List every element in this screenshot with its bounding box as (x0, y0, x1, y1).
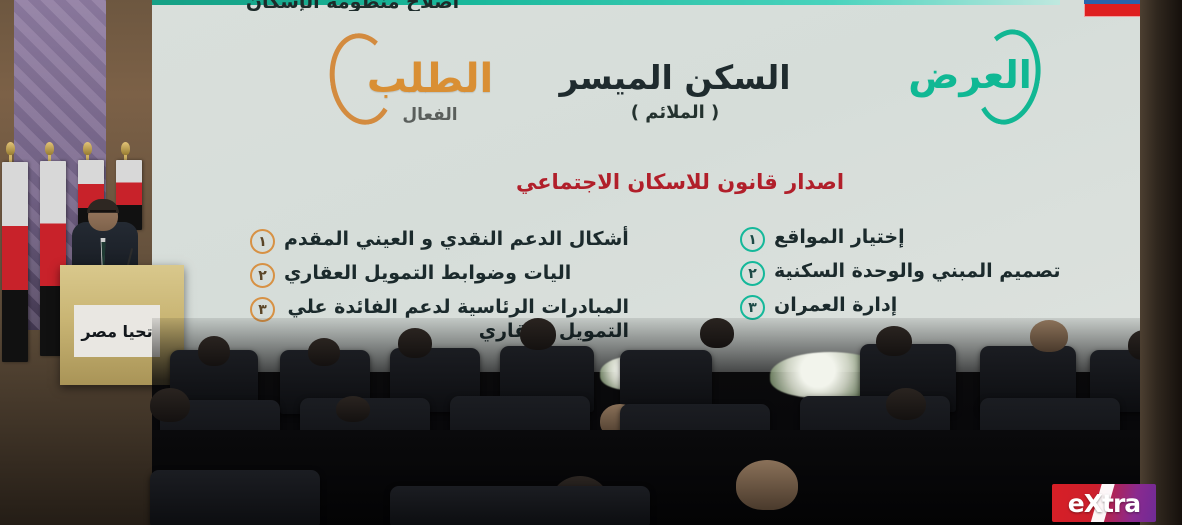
audience-head (886, 388, 926, 420)
audience-head (736, 460, 798, 510)
list-item-number: ٢ (250, 263, 275, 288)
list-item-number: ١ (250, 229, 275, 254)
law-statement: اصدار قانون للاسكان الاجتماعي (430, 170, 930, 194)
audience-head (876, 326, 912, 356)
audience-head (336, 396, 370, 422)
list-item: ١ أشكال الدعم النقدي و العيني المقدم (250, 228, 650, 254)
list-item-number: ٣ (740, 295, 765, 320)
heading-supply: العرض (890, 53, 1050, 97)
audience-head (1030, 320, 1068, 352)
audience-chair (150, 470, 320, 525)
hall-right-wall (1140, 0, 1182, 525)
heading-center: السكن الميسر (540, 58, 810, 97)
list-item-number: ١ (740, 227, 765, 252)
list-item-label: اليات وضوابط التمويل العقاري (284, 262, 571, 286)
heading-center-subtitle: ( الملائم ) (540, 102, 810, 123)
flag-finial (83, 142, 92, 155)
audience-head (198, 336, 230, 366)
list-item-label: إختيار المواقع (774, 226, 905, 250)
list-item: ٢ اليات وضوابط التمويل العقاري (250, 262, 650, 288)
podium-plate: تحيا مصر (74, 305, 160, 357)
speaker-glasses (90, 210, 116, 218)
podium-plate-label: تحيا مصر (81, 322, 152, 341)
heading-demand-subtitle: الفعال (350, 105, 510, 125)
list-item: ٢ تصميم المبني والوحدة السكنية (740, 260, 1110, 286)
flag-finial (6, 142, 15, 155)
supply-list: ١ إختيار المواقع ٢ تصميم المبني والوحدة … (740, 226, 1110, 328)
list-item: ١ إختيار المواقع (740, 226, 1110, 252)
audience-head (398, 328, 432, 358)
top-right-blue-line (1084, 0, 1144, 4)
audience-head (308, 338, 340, 366)
broadcast-frame: اصلاح منظومة الإسكان الطلب الفعال السكن … (0, 0, 1182, 525)
list-item-label: تصميم المبني والوحدة السكنية (774, 260, 1061, 284)
audience-head (150, 388, 190, 422)
slide-clipped-header: اصلاح منظومة الإسكان (245, 0, 460, 11)
list-item-number: ٢ (740, 261, 765, 286)
channel-logo-text: eXtra (1052, 484, 1156, 522)
audience-head (520, 318, 556, 350)
audience-head (700, 318, 734, 348)
egyptian-flag (116, 160, 142, 230)
list-item: ٣ إدارة العمران (740, 294, 1110, 320)
flag-finial (121, 142, 130, 155)
flag-finial (45, 142, 54, 155)
audience-chair (390, 486, 650, 525)
channel-logo: eXtra (1052, 484, 1156, 522)
audience-chair (620, 350, 712, 412)
heading-demand: الطلب (350, 56, 510, 102)
egyptian-flag (2, 162, 28, 362)
list-item-label: إدارة العمران (774, 294, 897, 318)
list-item-label: أشكال الدعم النقدي و العيني المقدم (284, 228, 629, 252)
